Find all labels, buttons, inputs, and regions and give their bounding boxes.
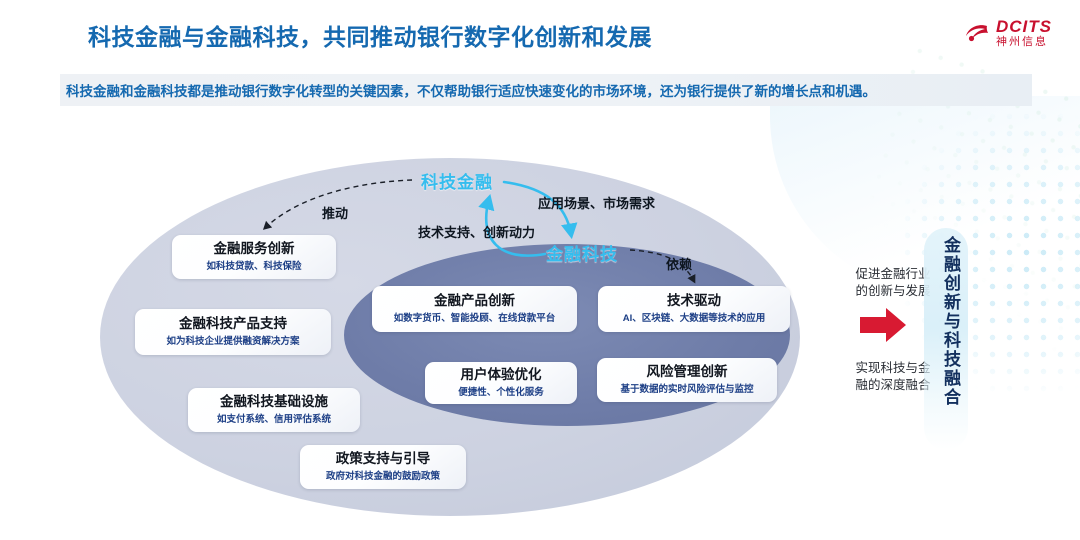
vertical-title: 金融创新与科技融合 xyxy=(932,236,960,407)
label-keji-jinrong: 科技金融 xyxy=(421,168,493,193)
card-title: 金融科技产品支持 xyxy=(179,316,287,333)
card-subtitle: AI、区块链、大数据等技术的应用 xyxy=(623,313,766,325)
card-technology-driven[interactable]: 技术驱动 AI、区块链、大数据等技术的应用 xyxy=(598,286,790,332)
subtitle-banner: 科技金融和金融科技都是推动银行数字化转型的关键因素，不仅帮助银行适应快速变化的市… xyxy=(60,74,1032,106)
logo-text-cn: 神州信息 xyxy=(996,37,1052,48)
flow-label-depend: 依赖 xyxy=(666,254,692,273)
label-jinrong-keji: 金融科技 xyxy=(546,240,618,265)
card-title: 金融服务创新 xyxy=(214,241,295,258)
card-subtitle: 如科技贷款、科技保险 xyxy=(206,261,301,273)
card-subtitle: 便捷性、个性化服务 xyxy=(458,387,544,399)
card-subtitle: 基于数据的实时风险评估与监控 xyxy=(620,384,753,396)
flow-label-scenario: 应用场景、市场需求 xyxy=(538,193,655,212)
card-title: 金融产品创新 xyxy=(434,293,515,310)
card-user-experience-optimization[interactable]: 用户体验优化 便捷性、个性化服务 xyxy=(425,362,577,404)
card-title: 技术驱动 xyxy=(667,293,721,310)
dcits-swirl-icon xyxy=(964,20,990,46)
card-title: 用户体验优化 xyxy=(461,367,542,384)
slide-canvas: 科技金融与金融科技，共同推动银行数字化创新和发展 DCITS 神州信息 科技金融… xyxy=(0,0,1080,540)
card-subtitle: 如支付系统、信用评估系统 xyxy=(217,414,331,426)
card-fintech-infrastructure[interactable]: 金融科技基础设施 如支付系统、信用评估系统 xyxy=(188,388,360,432)
card-title: 风险管理创新 xyxy=(647,364,728,381)
card-subtitle: 政府对科技金融的鼓励政策 xyxy=(326,471,440,483)
card-financial-product-innovation[interactable]: 金融产品创新 如数字货币、智能投顾、在线贷款平台 xyxy=(372,286,577,332)
right-arrow-icon xyxy=(860,308,906,342)
card-financial-service-innovation[interactable]: 金融服务创新 如科技贷款、科技保险 xyxy=(172,235,336,279)
page-title: 科技金融与金融科技，共同推动银行数字化创新和发展 xyxy=(88,18,652,52)
flow-label-tech-support: 技术支持、创新动力 xyxy=(418,222,535,241)
card-title: 金融科技基础设施 xyxy=(220,394,328,411)
card-policy-support[interactable]: 政策支持与引导 政府对科技金融的鼓励政策 xyxy=(300,445,466,489)
card-subtitle: 如为科技企业提供融资解决方案 xyxy=(166,336,299,348)
subtitle-text: 科技金融和金融科技都是推动银行数字化转型的关键因素，不仅帮助银行适应快速变化的市… xyxy=(60,80,876,100)
card-risk-management-innovation[interactable]: 风险管理创新 基于数据的实时风险评估与监控 xyxy=(597,358,777,402)
card-title: 政策支持与引导 xyxy=(336,451,431,468)
card-subtitle: 如数字货币、智能投顾、在线贷款平台 xyxy=(394,313,556,325)
brand-logo: DCITS 神州信息 xyxy=(964,18,1052,48)
card-fintech-product-support[interactable]: 金融科技产品支持 如为科技企业提供融资解决方案 xyxy=(135,309,331,355)
logo-text-en: DCITS xyxy=(996,18,1052,35)
flow-label-push: 推动 xyxy=(322,203,348,222)
